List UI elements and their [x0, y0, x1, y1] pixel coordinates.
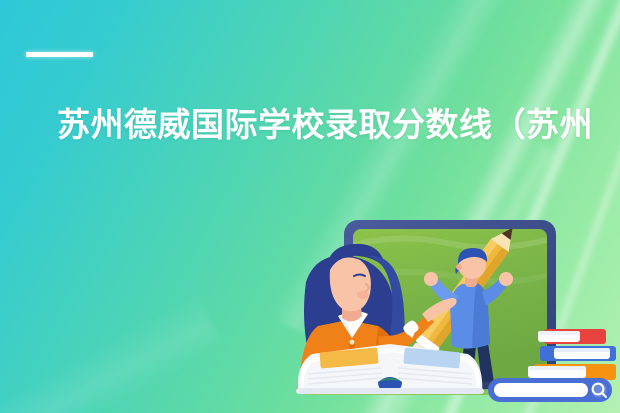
accent-rule — [26, 52, 93, 57]
book-stack — [528, 329, 616, 380]
education-study-illustration — [282, 196, 620, 413]
search-bar[interactable] — [488, 378, 612, 402]
promo-banner: 苏州德威国际学校录取分数线（苏州 — [0, 0, 620, 413]
search-icon[interactable] — [592, 383, 607, 398]
page-title: 苏州德威国际学校录取分数线（苏州 — [57, 103, 620, 147]
light-streak — [0, 294, 224, 413]
